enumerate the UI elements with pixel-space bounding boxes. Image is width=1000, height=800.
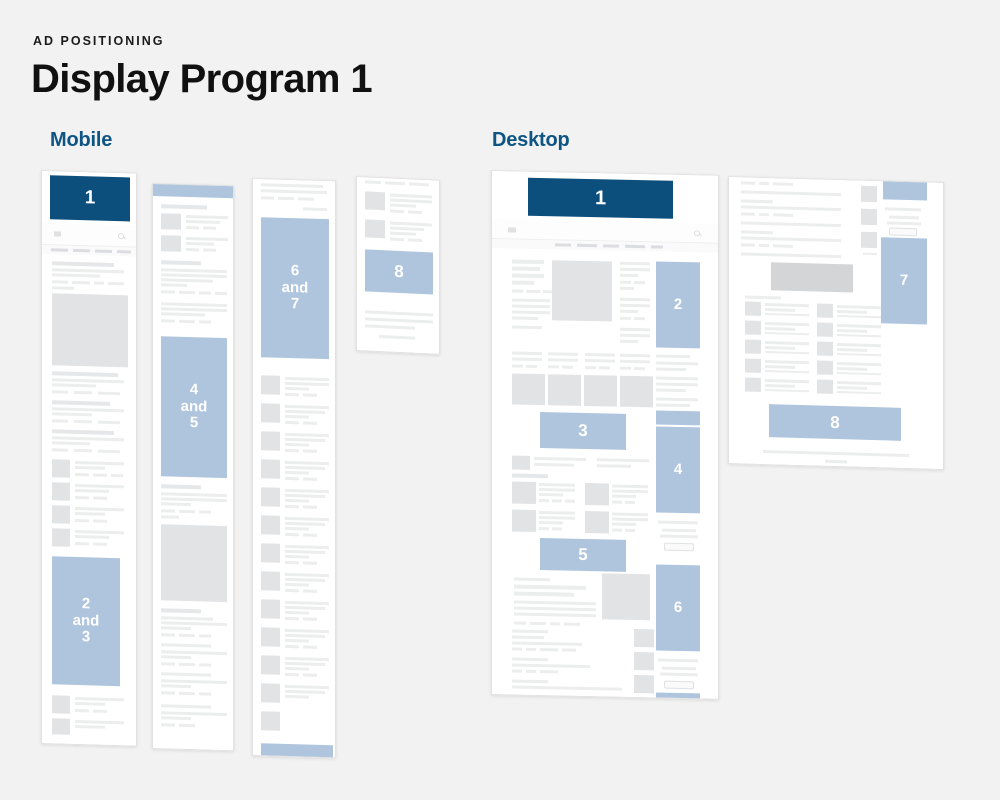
feature-image-placeholder	[771, 262, 853, 292]
ad-slot-number-2: 5	[190, 415, 198, 432]
ad-slot-number: 4	[674, 461, 682, 478]
search-icon[interactable]	[694, 230, 700, 236]
ad-slot-number: 6	[674, 599, 682, 616]
ad-slot-desktop-8[interactable]: 8	[769, 404, 901, 441]
hero-image-placeholder	[52, 293, 128, 367]
ad-slot-mobile-4-and-5[interactable]: 4 and 5	[161, 336, 227, 478]
ad-slot-number-2: 3	[82, 630, 90, 647]
page-eyebrow: AD POSITIONING	[33, 34, 164, 48]
ad-slot-mobile-above-fold[interactable]	[153, 183, 234, 198]
ad-slot-mobile-8[interactable]: 8	[365, 249, 433, 294]
ad-slot-conjunction: and	[282, 279, 309, 297]
ad-slot-number: 3	[578, 421, 587, 440]
ad-slot-number: 2	[674, 296, 682, 313]
ad-slot-desktop-1[interactable]: 1	[528, 178, 673, 219]
ad-slot-number: 5	[578, 545, 587, 564]
ad-slot-number: 7	[900, 272, 908, 289]
ad-slot-desktop-6[interactable]: 6	[656, 564, 700, 651]
ad-slot-desktop-rail-filler-1[interactable]	[656, 410, 700, 425]
ad-slot-desktop-5[interactable]: 5	[540, 538, 626, 572]
ad-slot-desktop-7[interactable]: 7	[881, 237, 927, 324]
newsletter-subscribe-button-3[interactable]	[889, 227, 917, 236]
newsletter-subscribe-button[interactable]	[664, 543, 694, 552]
feature-image-placeholder	[602, 573, 650, 620]
ad-slot-mobile-2-and-3[interactable]: 2 and 3	[52, 556, 120, 686]
ad-slot-number: 8	[394, 262, 403, 281]
ad-slot-number: 6	[291, 263, 299, 280]
newsletter-subscribe-button-2[interactable]	[664, 681, 694, 690]
article-image-placeholder	[161, 524, 227, 602]
hero-image-placeholder	[552, 260, 612, 321]
ad-slot-number: 1	[85, 188, 96, 210]
ad-slot-desktop-rail-top[interactable]	[883, 177, 927, 200]
ad-slot-number: 8	[830, 413, 839, 432]
hamburger-icon[interactable]	[508, 227, 516, 232]
hamburger-icon[interactable]	[54, 231, 61, 236]
ad-slot-conjunction: and	[73, 612, 100, 630]
ad-slot-number-2: 7	[291, 296, 299, 313]
ad-positioning-page: AD POSITIONING Display Program 1 Mobile …	[0, 0, 1000, 800]
ad-slot-conjunction: and	[181, 398, 208, 416]
ad-slot-number: 4	[190, 382, 198, 399]
ad-slot-desktop-2[interactable]: 2	[656, 261, 700, 348]
ad-slot-mobile-6-and-7[interactable]: 6 and 7	[261, 217, 329, 359]
ad-slot-desktop-rail-filler-2[interactable]	[656, 692, 700, 699]
ad-slot-mobile-1[interactable]: 1	[50, 175, 130, 221]
ad-slot-mobile-sticky-bottom[interactable]	[261, 743, 333, 758]
ad-slot-desktop-4[interactable]: 4	[656, 426, 700, 513]
ad-slot-desktop-3[interactable]: 3	[540, 412, 626, 450]
page-title: Display Program 1	[31, 57, 372, 102]
section-label-mobile: Mobile	[50, 129, 112, 152]
ad-slot-number: 2	[82, 596, 90, 613]
ad-slot-number: 1	[595, 187, 606, 210]
section-label-desktop: Desktop	[492, 129, 570, 152]
search-icon[interactable]	[118, 233, 124, 239]
